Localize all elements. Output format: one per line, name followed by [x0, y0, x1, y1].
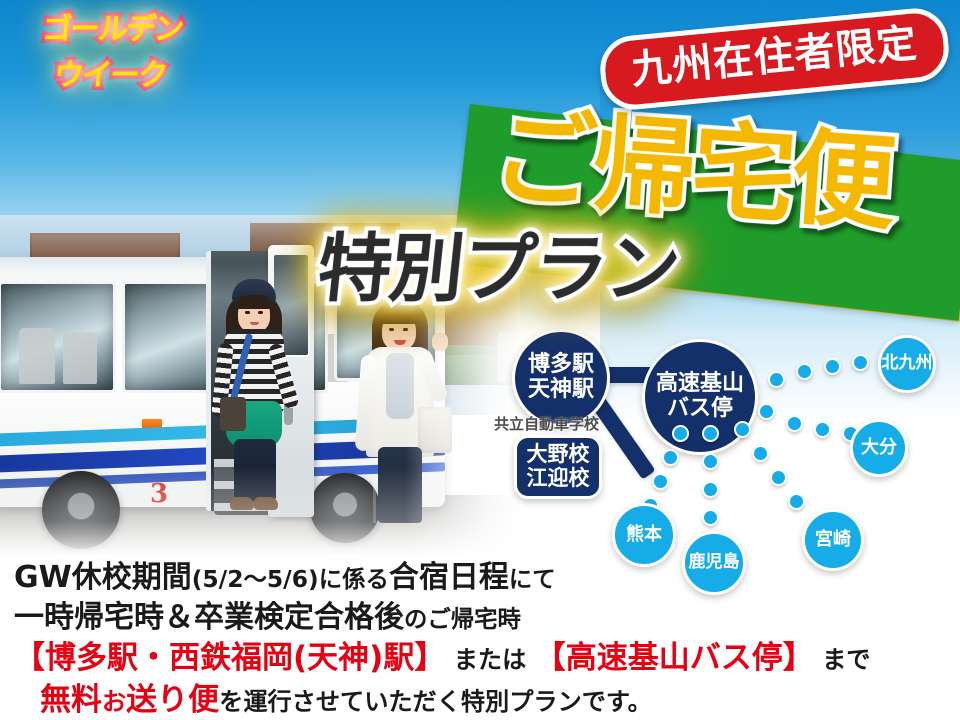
promotional-banner: 3 — [0, 0, 960, 720]
badge-label: 九州在住者限定 — [629, 22, 919, 91]
route-dot — [752, 445, 769, 462]
route-dot — [702, 481, 719, 498]
bus-window-1 — [0, 281, 116, 393]
route-map: 博多駅天神駅 高速基山バス停 共立自動車学校 大野校江迎校 北九州 大分 — [490, 325, 960, 615]
route-dot — [788, 493, 805, 510]
node-label: 博多駅天神駅 — [528, 353, 594, 402]
gold-title-return-home: ご帰宅便 — [489, 104, 895, 236]
tote-bag — [418, 407, 452, 453]
node-label: 大分 — [861, 438, 897, 458]
node-label: 宮崎 — [815, 530, 851, 550]
node-label: 大野校江迎校 — [527, 443, 590, 490]
special-plan-title: 特別プラン — [314, 232, 682, 306]
bus-seat — [63, 332, 97, 384]
headline-line-1: ゴールデン — [41, 16, 184, 45]
node-label: 北九州 — [882, 354, 933, 373]
map-caption-school-name: 共立自動車学校 — [494, 413, 599, 434]
eye — [403, 328, 408, 331]
eye — [245, 311, 250, 314]
route-dot — [852, 354, 869, 371]
waving-hand — [432, 333, 448, 351]
leg-separation — [373, 481, 376, 523]
shoe — [230, 497, 254, 510]
shoe — [254, 497, 278, 510]
jeans — [378, 447, 422, 523]
route-dot — [786, 415, 803, 432]
description-line-3: 【博多駅・西鉄福岡(天神)駅】 または 【高速基山バス停】 まで — [14, 632, 870, 677]
person-in-doorway — [214, 273, 296, 517]
node-label: 高速基山バス停 — [656, 372, 744, 421]
route-dot — [768, 371, 785, 388]
inner-top — [386, 353, 414, 419]
node-miyazaki[interactable]: 宮崎 — [802, 509, 864, 571]
bus-wheel-front — [42, 471, 120, 549]
headline-line-2: ウイーク — [53, 62, 168, 91]
route-dot — [796, 363, 813, 380]
bus-seat — [19, 328, 55, 384]
node-label: 熊本 — [626, 525, 662, 545]
node-kitakyushu[interactable]: 北九州 — [878, 335, 936, 393]
route-dot — [652, 473, 669, 490]
eye — [258, 311, 263, 314]
node-oita[interactable]: 大分 — [850, 419, 908, 477]
node-ono-emukae-campus[interactable]: 大野校江迎校 — [514, 435, 602, 499]
route-dot — [702, 509, 719, 526]
node-label: 鹿児島 — [689, 553, 740, 572]
route-dot — [672, 425, 689, 442]
description-line-4: 無料お送り便を運行させていただく特別プランです。 — [40, 674, 652, 719]
bus-number: 3 — [150, 479, 168, 509]
jeans — [234, 439, 276, 501]
route-dot — [702, 425, 719, 442]
node-kumamoto[interactable]: 熊本 — [612, 503, 676, 567]
hair-bangs — [236, 295, 272, 309]
route-dot — [770, 469, 787, 486]
eye — [389, 328, 394, 331]
description-line-2: 一時帰宅時＆卒業検定合格後のご帰宅時 — [14, 592, 521, 636]
route-dot — [758, 403, 775, 420]
route-dot — [824, 358, 841, 375]
description-line-1: GW休校期間(5/2〜5/6)に係る合宿日程にて — [14, 552, 556, 596]
shoulder-bag — [220, 397, 246, 431]
route-dot — [662, 449, 679, 466]
route-dot — [734, 421, 751, 438]
route-dot — [702, 453, 719, 470]
node-kagoshima[interactable]: 鹿児島 — [682, 531, 746, 595]
route-dot — [814, 421, 831, 438]
person-standing — [352, 295, 448, 533]
